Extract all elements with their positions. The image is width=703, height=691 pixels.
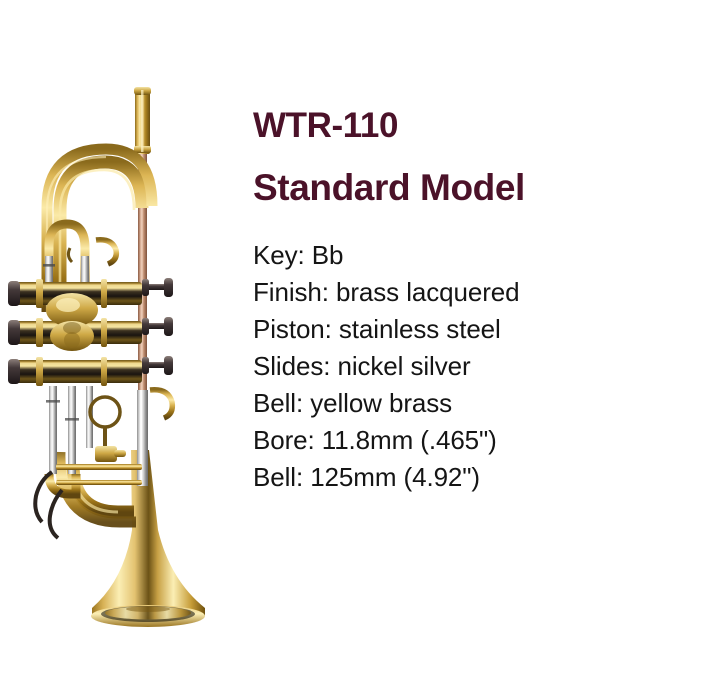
spec-item-bell-size: Bell: 125mm (4.92") (253, 464, 683, 490)
water-key-hook-lower (150, 390, 172, 418)
spec-item-bell-material: Bell: yellow brass (253, 390, 683, 416)
spec-item-piston: Piston: stainless steel (253, 316, 683, 342)
spec-item-finish: Finish: brass lacquered (253, 279, 683, 305)
product-model-number: WTR-110 (253, 108, 683, 143)
specification-list: Key: Bb Finish: brass lacquered Piston: … (253, 242, 683, 490)
first-valve-slide (49, 386, 57, 474)
spec-item-key: Key: Bb (253, 242, 683, 268)
water-key-hook-upper (96, 240, 116, 264)
trumpet-product-image (0, 60, 240, 640)
finger-buttons (142, 278, 173, 375)
spec-item-bore: Bore: 11.8mm (.465") (253, 427, 683, 453)
product-info-panel: WTR-110 Standard Model Key: Bb Finish: b… (253, 108, 683, 490)
spec-item-slides: Slides: nickel silver (253, 353, 683, 379)
valve-knuckle-cluster (46, 293, 98, 351)
product-model-name: Standard Model (253, 169, 683, 206)
product-spec-page: WTR-110 Standard Model Key: Bb Finish: b… (0, 0, 703, 691)
third-valve-slide-ring (90, 397, 126, 462)
trumpet-illustration (8, 87, 205, 627)
